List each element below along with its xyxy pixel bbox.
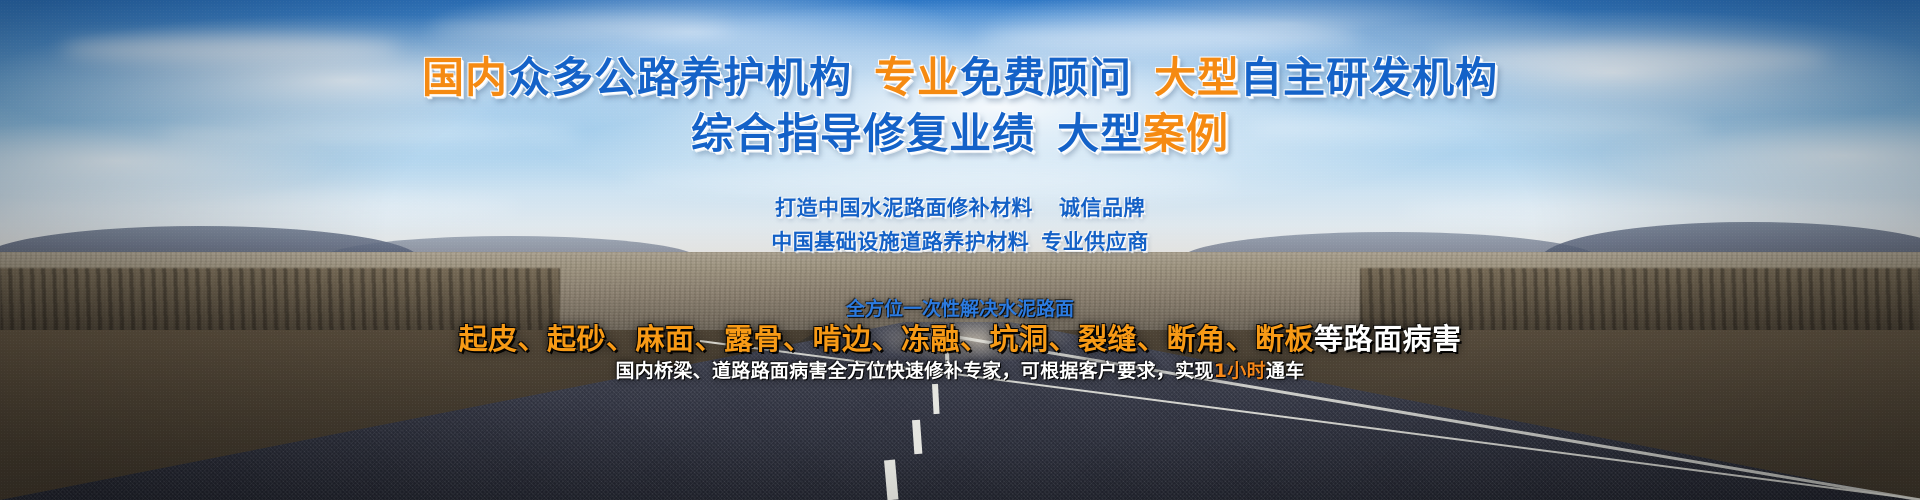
- headline1-seg5: 大型: [1154, 53, 1240, 102]
- headline1-seg1: 国内: [422, 53, 508, 102]
- promo-banner: 国内众多公路养护机构专业免费顾问大型自主研发机构 综合指导修复业绩大型案例 打造…: [0, 0, 1920, 500]
- headline1-seg4: 免费顾问: [960, 53, 1132, 102]
- headline1-seg6: 自主研发机构: [1240, 53, 1498, 102]
- subhead-line-2: 中国基础设施道路养护材料专业供应商: [0, 226, 1920, 256]
- headline-line-1: 国内众多公路养护机构专业免费顾问大型自主研发机构: [0, 44, 1920, 105]
- defects-suffix: 等路面病害: [1314, 322, 1462, 356]
- headline-line-2: 综合指导修复业绩大型案例: [0, 100, 1920, 161]
- subhead1-part-b: 诚信品牌: [1059, 196, 1145, 220]
- bottom-line-3: 国内桥梁、道路路面病害全方位快速修补专家，可根据客户要求，实现1小时通车: [0, 356, 1920, 383]
- bottom3-highlight: 1小时: [1214, 360, 1266, 382]
- subhead1-part-a: 打造中国水泥路面修补材料: [775, 196, 1033, 220]
- bottom-defects-line: 起皮、起砂、麻面、露骨、啃边、冻融、坑洞、裂缝、断角、断板等路面病害: [0, 316, 1920, 358]
- bottom3-part-a: 国内桥梁、道路路面病害全方位快速修补专家，可根据客户要求，实现: [615, 360, 1213, 382]
- defects-list: 起皮、起砂、麻面、露骨、啃边、冻融、坑洞、裂缝、断角、断板: [458, 322, 1314, 356]
- bottom3-part-b: 通车: [1266, 360, 1305, 382]
- banner-text-layer: 国内众多公路养护机构专业免费顾问大型自主研发机构 综合指导修复业绩大型案例 打造…: [0, 0, 1920, 500]
- subhead2-part-a: 中国基础设施道路养护材料: [771, 230, 1029, 254]
- headline1-seg2: 众多公路养护机构: [508, 53, 852, 102]
- subhead-line-1: 打造中国水泥路面修补材料诚信品牌: [0, 192, 1920, 222]
- headline2-seg1: 综合指导修复业绩: [691, 109, 1035, 158]
- subhead2-part-b: 专业供应商: [1041, 230, 1149, 254]
- headline1-seg3: 专业: [874, 53, 960, 102]
- headline2-seg2: 大型: [1057, 109, 1143, 158]
- headline2-seg3: 案例: [1143, 109, 1229, 158]
